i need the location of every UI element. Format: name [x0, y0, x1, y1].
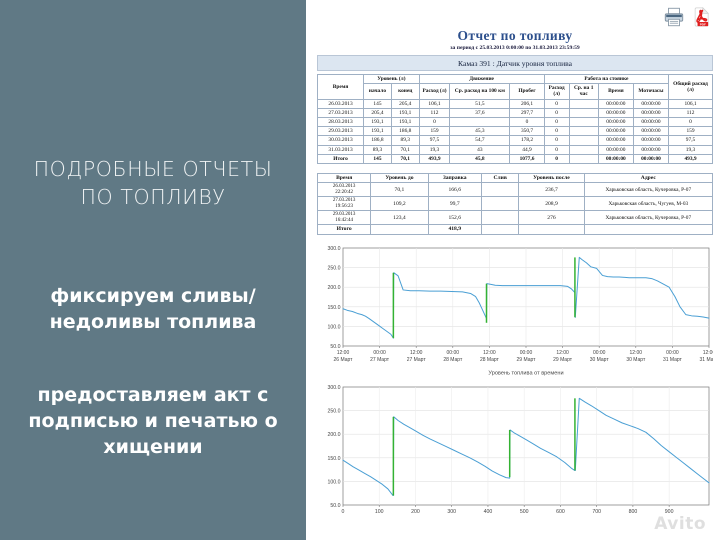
table-row: 27.03.201319:56:23109,299,7208,9Харьковс… [318, 197, 713, 211]
table-cell [481, 197, 519, 211]
x-tick-label: 600 [556, 509, 565, 515]
promo-bullet-1-line1: фиксируем сливы/ [10, 283, 296, 309]
table-row: 28.03.2013193,1193,100000:00:0000:00:000 [318, 118, 713, 127]
x-tick-label: 400 [484, 509, 493, 515]
table-cell [371, 225, 428, 234]
th-address: Адрес [584, 174, 712, 183]
table-row: 29.03.2013193,1186,815945,3350,7000:00:0… [318, 127, 713, 136]
table-total-row: Итого418,9 [318, 225, 713, 234]
table-header-row: начало конец Расход (л) Ср. расход на 10… [318, 84, 713, 99]
th-move-consumption: Расход (л) [419, 84, 450, 99]
x-tick-label: 900 [665, 509, 674, 515]
x-tick-label-date: 26 Март [334, 357, 354, 363]
y-tick-label: 150.0 [328, 456, 341, 462]
refuel-events-body: 26.03.201322:20:4270,1166,6236,7Харьковс… [318, 183, 713, 234]
plot-area [343, 387, 709, 505]
table-cell: Харьковская область, Чугуев, М-03 [584, 197, 712, 211]
table-cell: 205,4 [391, 99, 419, 108]
table-cell [519, 225, 584, 234]
promo-bullet-1-line2: недоливы топлива [10, 309, 296, 335]
table-cell: 106,1 [669, 99, 713, 108]
table-cell: 206,1 [510, 99, 544, 108]
th-group-level: Уровень (л) [364, 75, 420, 84]
table-cell: 26.03.2013 [318, 99, 364, 108]
table-cell: 123,4 [371, 211, 428, 225]
th-idle-consumption: Расход (л) [544, 84, 569, 99]
x-tick-label-time: 00:00 [373, 350, 386, 356]
table-cell: 44,9 [510, 145, 544, 154]
table-cell: 0 [544, 99, 569, 108]
refuel-events-table: Время Уровень до Заправка Слив Уровень п… [317, 173, 713, 235]
table-cell: 106,1 [419, 99, 450, 108]
table-cell: 193,1 [364, 118, 392, 127]
table-cell: 350,7 [510, 127, 544, 136]
table-cell: 186,8 [391, 127, 419, 136]
table-cell: 00:00:00 [598, 136, 633, 145]
x-tick-label: 200 [411, 509, 420, 515]
table-cell: 109,2 [371, 197, 428, 211]
promo-bullet-2-line2: подписью и печатью о [10, 408, 296, 434]
table-cell [481, 183, 519, 197]
th-time: Время [318, 75, 364, 100]
table-cell: 145 [364, 154, 392, 163]
table-cell: 0 [544, 118, 569, 127]
x-tick-label-date: 27 Март [407, 357, 427, 363]
report-toolbar: PDF [663, 6, 712, 28]
y-tick-label: 100.0 [328, 324, 341, 330]
table-cell: 89,3 [391, 136, 419, 145]
table-cell: 0 [544, 127, 569, 136]
table-cell: 186,8 [364, 136, 392, 145]
x-tick-label: 800 [629, 509, 638, 515]
y-tick-label: 250.0 [328, 408, 341, 414]
x-tick-label-date: 28 Март [443, 357, 463, 363]
th-level-end: конец [391, 84, 419, 99]
table-row: 26.03.201322:20:4270,1166,6236,7Харьковс… [318, 183, 713, 197]
printer-icon[interactable] [663, 6, 685, 28]
th-idle-motohours: Моточасы [633, 84, 668, 99]
table-cell: 0 [544, 136, 569, 145]
x-tick-label-date: 27 Март [370, 357, 390, 363]
fuel-level-time-chart: 50.0100.0150.0200.0250.0300.012:0026 Мар… [317, 244, 713, 376]
x-tick-label: 700 [592, 509, 601, 515]
table-cell: 26.03.201322:20:42 [318, 183, 371, 197]
promo-headline-line1: ПОДРОБНЫЕ ОТЧЕТЫ [12, 156, 294, 184]
x-tick-label-time: 12:00 [410, 350, 423, 356]
th-idle-time: Время [598, 84, 633, 99]
table-row: 29.03.201316:42:44123,4152,6276Харьковск… [318, 211, 713, 225]
x-tick-label-time: 00:00 [666, 350, 679, 356]
table-cell: 27.03.2013 [318, 108, 364, 117]
table-cell: 00:00:00 [633, 154, 668, 163]
table-cell: 276 [519, 211, 584, 225]
table-cell: 00:00:00 [633, 108, 668, 117]
x-tick-label-time: 12:00 [483, 350, 496, 356]
table-row: 31.03.201389,370,119,34344,9000:00:0000:… [318, 145, 713, 154]
table-cell: 31.03.2013 [318, 145, 364, 154]
table-cell [569, 108, 598, 117]
th-refuel: Заправка [428, 174, 481, 183]
table-cell: 27.03.201319:56:23 [318, 197, 371, 211]
table-cell: 97,5 [669, 136, 713, 145]
table-cell: 205,4 [364, 108, 392, 117]
x-tick-label: 0 [342, 509, 345, 515]
slide-root: ПОДРОБНЫЕ ОТЧЕТЫ ПО ТОПЛИВУ фиксируем сл… [0, 0, 720, 540]
table-cell: 493,9 [669, 154, 713, 163]
table-cell: 0 [544, 145, 569, 154]
table-cell: 1077,6 [510, 154, 544, 163]
table-cell: 00:00:00 [598, 154, 633, 163]
table-cell [569, 118, 598, 127]
x-tick-label-time: 12:00 [630, 350, 643, 356]
y-tick-label: 300.0 [328, 246, 341, 252]
x-tick-label-date: 29 Март [517, 357, 537, 363]
y-tick-label: 200.0 [328, 285, 341, 291]
table-cell: 70,1 [391, 145, 419, 154]
y-tick-label: 200.0 [328, 432, 341, 438]
th-move-avg100: Ср. расход на 100 км [450, 84, 510, 99]
table-row: 26.03.2013145205,4106,151,5206,1000:00:0… [318, 99, 713, 108]
table-cell: Итого [318, 225, 371, 234]
table-cell [569, 99, 598, 108]
table-cell: 493,9 [419, 154, 450, 163]
table-cell: 418,9 [428, 225, 481, 234]
table-cell: 19,3 [419, 145, 450, 154]
table-cell: 54,7 [450, 136, 510, 145]
promo-headline: ПОДРОБНЫЕ ОТЧЕТЫ ПО ТОПЛИВУ [12, 156, 294, 211]
x-tick-label-time: 00:00 [593, 350, 606, 356]
table-cell: Харьковская область, Кучеровка, Р-07 [584, 211, 712, 225]
pdf-icon[interactable]: PDF [690, 6, 712, 28]
table-cell: 193,1 [391, 118, 419, 127]
fuel-level-index-chart: 50.0100.0150.0200.0250.0300.001002003004… [317, 383, 713, 521]
th-group-movement: Движение [419, 75, 544, 84]
table-cell: 99,7 [428, 197, 481, 211]
th-level-after: Уровень после [519, 174, 584, 183]
table-cell: Харьковская область, Кучеровка, Р-07 [584, 183, 712, 197]
table-cell: 30.03.2013 [318, 136, 364, 145]
table-cell [569, 145, 598, 154]
table-cell: 297,7 [510, 108, 544, 117]
table-cell: 166,6 [428, 183, 481, 197]
table-cell: 145 [364, 99, 392, 108]
table-total-row: Итого14570,1493,945,81077,6000:00:0000:0… [318, 154, 713, 163]
table-cell [481, 225, 519, 234]
table-cell: 112 [419, 108, 450, 117]
table-cell: 0 [510, 118, 544, 127]
fuel-summary-body: 26.03.2013145205,4106,151,5206,1000:00:0… [318, 99, 713, 163]
table-cell: 45,3 [450, 127, 510, 136]
table-cell: 00:00:00 [598, 127, 633, 136]
report-panel: PDF Отчет по топливу за период с 25.03.2… [306, 0, 720, 540]
th-idle-avg-hour: Ср. на 1 час [569, 84, 598, 99]
table-cell: 70,1 [391, 154, 419, 163]
promo-headline-line2: ПО ТОПЛИВУ [12, 184, 294, 212]
table-cell [569, 154, 598, 163]
report-title: Отчет по топливу [317, 28, 713, 44]
table-cell: 28.03.2013 [318, 118, 364, 127]
table-cell: Итого [318, 154, 364, 163]
th-event-time: Время [318, 174, 371, 183]
table-cell: 00:00:00 [633, 118, 668, 127]
table-cell: 159 [419, 127, 450, 136]
x-tick-label-date: 31 Март [663, 357, 683, 363]
svg-text:PDF: PDF [700, 22, 706, 26]
table-cell: 00:00:00 [633, 136, 668, 145]
y-tick-label: 100.0 [328, 479, 341, 485]
x-tick-label-time: 00:00 [447, 350, 460, 356]
table-cell: 178,2 [510, 136, 544, 145]
th-level-start: начало [364, 84, 392, 99]
table-cell [569, 136, 598, 145]
promo-bullet-1: фиксируем сливы/ недоливы топлива [10, 283, 296, 335]
x-tick-label: 100 [375, 509, 384, 515]
table-row: 27.03.2013205,4193,111237,6297,7000:00:0… [318, 108, 713, 117]
table-cell: 00:00:00 [598, 118, 633, 127]
th-total-consumption: Общий расход (л) [669, 75, 713, 100]
table-cell: 0 [544, 108, 569, 117]
table-cell: 89,3 [364, 145, 392, 154]
y-tick-label: 250.0 [328, 265, 341, 271]
y-tick-label: 300.0 [328, 385, 341, 391]
x-tick-label-date: 30 Март [590, 357, 610, 363]
table-cell [584, 225, 712, 234]
x-tick-label-date: 30 Март [626, 357, 646, 363]
table-cell: 0 [544, 154, 569, 163]
table-cell: 152,6 [428, 211, 481, 225]
table-cell: 29.03.201316:42:44 [318, 211, 371, 225]
table-cell: 00:00:00 [633, 127, 668, 136]
promo-bullet-2-line3: хищении [10, 434, 296, 460]
x-tick-label-date: 28 Март [480, 357, 500, 363]
table-cell: 37,6 [450, 108, 510, 117]
table-cell: 00:00:00 [633, 99, 668, 108]
th-level-before: Уровень до [371, 174, 428, 183]
x-tick-label-date: 29 Март [553, 357, 573, 363]
table-cell: 19,3 [669, 145, 713, 154]
x-tick-label: 300 [447, 509, 456, 515]
x-tick-label: 500 [520, 509, 529, 515]
report-subtitle: за период с 25.03.2013 0:00:00 по 31.03.… [317, 45, 713, 51]
table-cell [450, 118, 510, 127]
table-cell: 0 [669, 118, 713, 127]
table-cell: 00:00:00 [598, 108, 633, 117]
y-tick-label: 150.0 [328, 305, 341, 311]
table-cell: 45,8 [450, 154, 510, 163]
x-tick-label-time: 12:00 [337, 350, 350, 356]
table-group-header-row: Время Уровень (л) Движение Работа на сто… [318, 75, 713, 84]
table-cell: 70,1 [371, 183, 428, 197]
table-cell: 29.03.2013 [318, 127, 364, 136]
table-cell: 00:00:00 [598, 99, 633, 108]
table-cell: 193,1 [364, 127, 392, 136]
x-tick-label-time: 12:00 [556, 350, 569, 356]
x-tick-label-date: 31 Март [700, 357, 713, 363]
x-tick-label-time: 00:00 [520, 350, 533, 356]
chart-caption: Уровень топлива от времени [488, 370, 563, 376]
table-cell: 193,1 [391, 108, 419, 117]
table-cell: 159 [669, 127, 713, 136]
table-cell: 97,5 [419, 136, 450, 145]
table-cell: 00:00:00 [598, 145, 633, 154]
th-drain: Слив [481, 174, 519, 183]
table-header-row: Время Уровень до Заправка Слив Уровень п… [318, 174, 713, 183]
table-cell: 208,9 [519, 197, 584, 211]
table-cell [569, 127, 598, 136]
table-cell [481, 211, 519, 225]
y-tick-label: 50.0 [330, 503, 340, 509]
table-cell: 236,7 [519, 183, 584, 197]
report-object-bar: Камаз 391 : Датчик уровня топлива [317, 55, 713, 71]
th-move-mileage: Пробег [510, 84, 544, 99]
promo-panel: ПОДРОБНЫЕ ОТЧЕТЫ ПО ТОПЛИВУ фиксируем сл… [0, 0, 306, 540]
fuel-summary-table: Время Уровень (л) Движение Работа на сто… [317, 74, 713, 164]
table-cell: 0 [419, 118, 450, 127]
table-row: 30.03.2013186,889,397,554,7178,2000:00:0… [318, 136, 713, 145]
th-group-idle: Работа на стоянке [544, 75, 668, 84]
promo-bullet-2: предоставляем акт с подписью и печатью о… [10, 382, 296, 461]
table-cell: 51,5 [450, 99, 510, 108]
table-cell: 00:00:00 [633, 145, 668, 154]
x-tick-label-time: 12:00 [703, 350, 713, 356]
table-cell: 43 [450, 145, 510, 154]
table-cell: 112 [669, 108, 713, 117]
promo-bullet-2-line1: предоставляем акт с [10, 382, 296, 408]
